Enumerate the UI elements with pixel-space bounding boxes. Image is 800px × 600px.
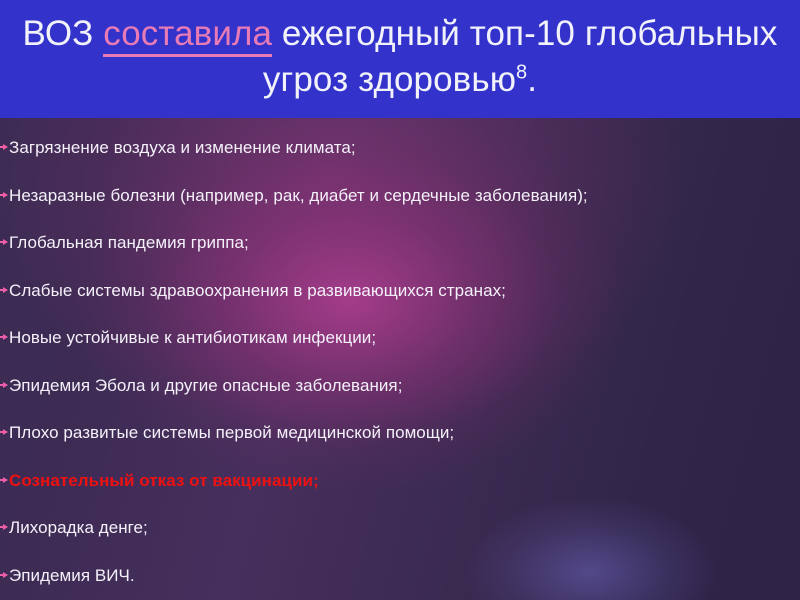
arrow-bullet-icon	[0, 239, 8, 246]
list-item-label: Лихорадка денге;	[9, 517, 148, 538]
list-item-label: Новые устойчивые к антибиотикам инфекции…	[9, 327, 376, 348]
arrow-bullet-icon	[0, 192, 8, 199]
arrow-bullet-icon	[0, 572, 8, 579]
title-text-after-link: ежегодный топ-10 глобальных угроз здоров…	[263, 14, 778, 99]
list-item: Слабые системы здравоохранения в развива…	[0, 267, 800, 315]
list-item: Эпидемия Эбола и другие опасные заболева…	[0, 362, 800, 410]
list-item-label: Слабые системы здравоохранения в развива…	[9, 280, 506, 301]
arrow-bullet-icon	[0, 144, 8, 151]
list-item: Плохо развитые системы первой медицинско…	[0, 409, 800, 457]
list-item-label: Сознательный отказ от вакцинации;	[9, 470, 319, 491]
list-item-label: Глобальная пандемия гриппа;	[9, 232, 249, 253]
list-item: Эпидемия ВИЧ.	[0, 552, 800, 600]
list-item: Новые устойчивые к антибиотикам инфекции…	[0, 314, 800, 362]
title-hyperlink-sostavila[interactable]: составила	[103, 14, 272, 57]
list-item-highlighted: Сознательный отказ от вакцинации;	[0, 457, 800, 505]
list-item: Лихорадка денге;	[0, 504, 800, 552]
list-item-label: Плохо развитые системы первой медицинско…	[9, 422, 454, 443]
arrow-bullet-icon	[0, 382, 8, 389]
arrow-bullet-icon	[0, 429, 8, 436]
title-text-trailing-period: .	[527, 60, 537, 99]
list-item-label: Эпидемия ВИЧ.	[9, 565, 135, 586]
slide-canvas: ВОЗ составила ежегодный топ-10 глобальны…	[0, 0, 800, 600]
list-item-label: Эпидемия Эбола и другие опасные заболева…	[9, 375, 402, 396]
title-text-before-link: ВОЗ	[23, 14, 104, 53]
list-item: Незаразные болезни (например, рак, диабе…	[0, 172, 800, 220]
arrow-bullet-icon	[0, 477, 8, 484]
arrow-bullet-icon	[0, 524, 8, 531]
list-item-label: Незаразные болезни (например, рак, диабе…	[9, 185, 588, 206]
arrow-bullet-icon	[0, 334, 8, 341]
arrow-bullet-icon	[0, 287, 8, 294]
list-item-label: Загрязнение воздуха и изменение климата;	[9, 137, 356, 158]
list-item: Глобальная пандемия гриппа;	[0, 219, 800, 267]
slide-title-band: ВОЗ составила ежегодный топ-10 глобальны…	[0, 0, 800, 118]
list-item: Загрязнение воздуха и изменение климата;	[0, 124, 800, 172]
page-title: ВОЗ составила ежегодный топ-10 глобальны…	[0, 11, 800, 107]
threats-bullet-list: Загрязнение воздуха и изменение климата;…	[0, 124, 800, 600]
title-footnote-superscript: 8	[516, 61, 527, 83]
